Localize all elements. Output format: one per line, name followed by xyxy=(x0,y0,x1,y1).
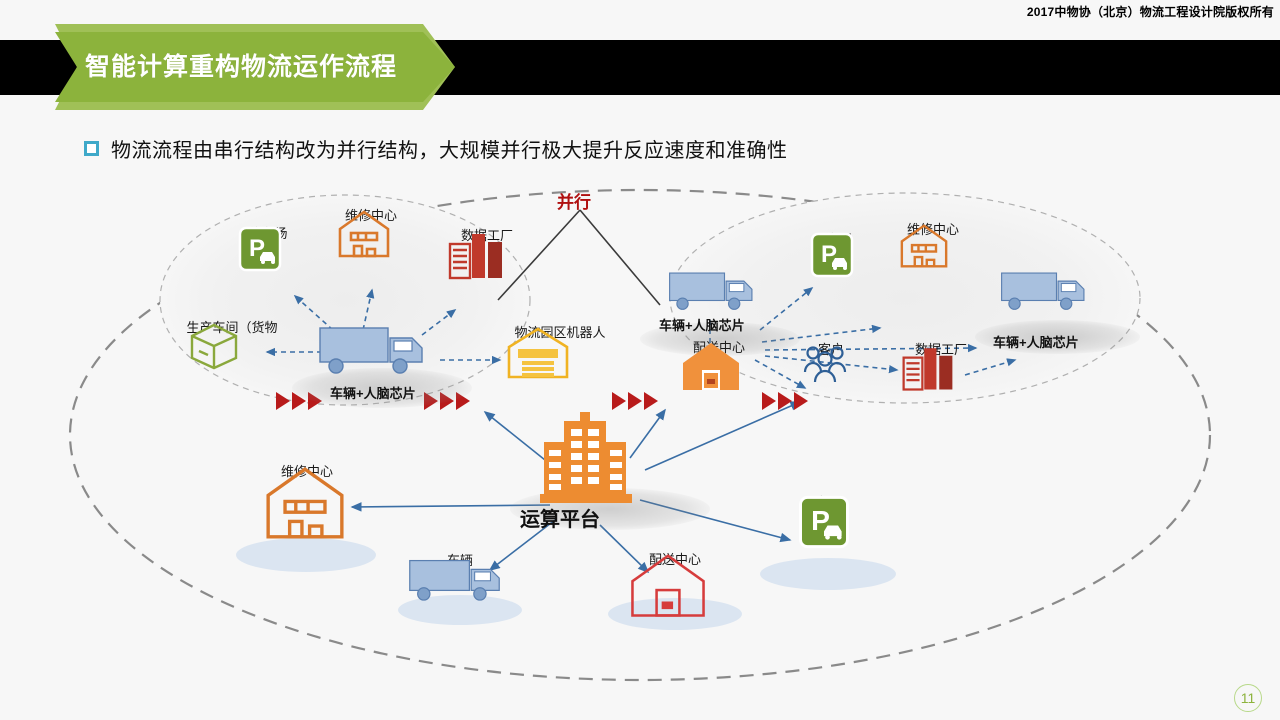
node-repair-center-bottom[interactable]: 维修中心 xyxy=(262,460,352,479)
truck-icon xyxy=(668,265,760,315)
square-bullet-icon xyxy=(84,141,99,156)
node-production-shop[interactable]: 生产车间（货物 xyxy=(186,320,282,335)
node-delivery-center[interactable]: 配送中心 xyxy=(680,340,758,355)
chevron-flow-robot-to-delivery xyxy=(612,392,658,410)
bullet-text: 物流流程由串行结构改为并行结构，大规模并行极大提升反应速度和准确性 xyxy=(111,134,788,163)
node-park-robot[interactable]: 物流园区机器人 xyxy=(505,325,615,340)
yellow-warehouse-icon xyxy=(505,325,571,381)
node-car-park[interactable]: P 车场 xyxy=(810,232,870,247)
data-factory-icon xyxy=(898,342,958,392)
truck-icon xyxy=(318,320,432,378)
arrow-platform-to-right-cluster-2 xyxy=(645,402,800,470)
red-warehouse-icon xyxy=(620,552,716,618)
node-delivery-center-bottom[interactable]: 配送中心 xyxy=(620,552,730,567)
node-data-factory-right[interactable]: 数据工厂 xyxy=(898,342,984,357)
page-title: 智能计算重构物流运作流程 xyxy=(85,48,397,86)
bullet-row: 物流流程由串行结构改为并行结构，大规模并行极大提升反应速度和准确性 xyxy=(84,134,788,163)
parking-sign-icon: P xyxy=(798,495,850,549)
page-number: 11 xyxy=(1234,684,1262,712)
chevron-flow-delivery-to-customer xyxy=(762,392,808,410)
package-box-icon xyxy=(186,320,242,370)
diagram-stage: 并行 P 停车场 维修中心 数据工厂 xyxy=(0,170,1280,690)
warehouse-outline-icon xyxy=(336,208,392,260)
orange-warehouse-icon xyxy=(680,340,742,392)
platform-label: 运算平台 xyxy=(520,503,600,532)
title-banner: 智能计算重构物流运作流程 xyxy=(55,24,455,110)
data-factory-icon xyxy=(444,228,508,280)
copyright-notice: 2017中物协（北京）物流工程设计院版权所有 xyxy=(1027,3,1274,20)
office-building-icon xyxy=(534,410,638,506)
warehouse-outline-icon xyxy=(898,222,950,270)
node-data-factory[interactable]: 数据工厂 xyxy=(444,228,530,243)
node-customer[interactable]: 客户 xyxy=(800,342,862,357)
node-repair-center[interactable]: 维修中心 xyxy=(336,208,406,223)
node-parking-lot[interactable]: P 停车场 xyxy=(238,226,298,241)
truck-icon xyxy=(408,553,508,605)
warehouse-outline-icon xyxy=(262,460,348,546)
right-in-vehicle-chip-label: 车辆+人脑芯片 xyxy=(659,315,745,334)
parallel-label: 并行 xyxy=(557,188,591,213)
node-repair-center-right[interactable]: 维修中心 xyxy=(898,222,968,237)
parking-sign-icon: P xyxy=(810,232,854,278)
node-vehicle-bottom[interactable]: 车辆 xyxy=(408,553,512,568)
people-group-icon xyxy=(800,342,850,390)
left-vehicle-chip-label: 车辆+人脑芯片 xyxy=(330,383,416,402)
right-out-vehicle-chip-label: 车辆+人脑芯片 xyxy=(993,332,1079,351)
parking-sign-icon: P xyxy=(238,226,282,272)
truck-icon xyxy=(1000,265,1092,315)
car-park-b-base xyxy=(760,558,896,590)
node-car-park-bottom[interactable]: P 车场 xyxy=(798,495,860,510)
